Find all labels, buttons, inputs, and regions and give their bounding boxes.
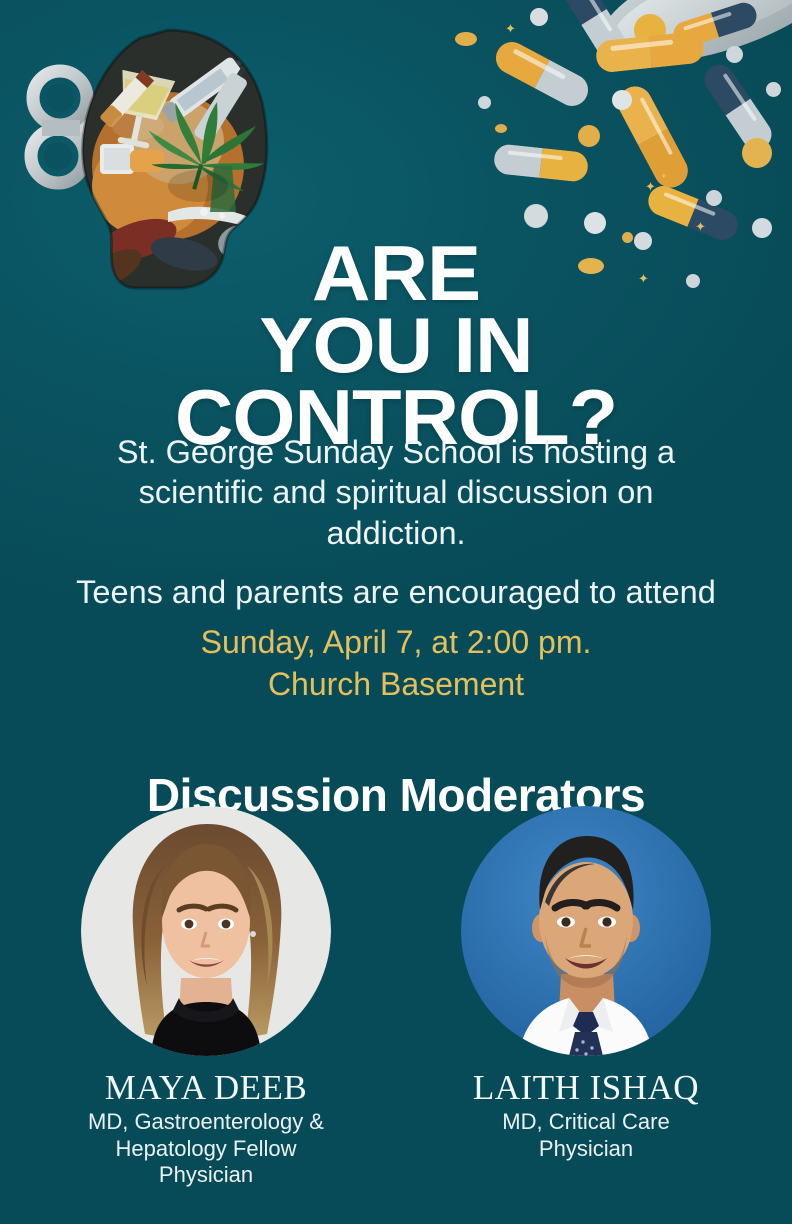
- sparkle-icon-3: ✦: [695, 220, 706, 233]
- tablet-gold-6: [495, 124, 507, 133]
- tablet-white-10: [766, 82, 781, 97]
- moderator-role-line-2: Hepatology Fellow Physician: [81, 1136, 331, 1190]
- description-line-2: scientific and spiritual discussion on: [26, 472, 766, 512]
- tablet-white-3: [478, 96, 491, 109]
- event-location: Church Basement: [26, 664, 766, 706]
- sparkle-icon-1: ✦: [505, 22, 516, 35]
- tablet-gold-2: [578, 125, 600, 147]
- tablet-gold-1: [455, 32, 477, 46]
- moderator-card: MAYA DEEB MD, Gastroenterology & Hepatol…: [81, 806, 331, 1206]
- moderator-name: MAYA DEEB: [81, 1070, 331, 1107]
- headline-line-1: ARE: [0, 238, 792, 310]
- moderator-card: LAITH ISHAQ MD, Critical Care Physician: [461, 806, 711, 1206]
- capsule-silver-gold-1: [493, 143, 590, 183]
- moderator-role-line-1: MD, Gastroenterology &: [81, 1109, 331, 1136]
- moderator-role-line-2: Physician: [461, 1136, 711, 1163]
- description-line-1: St. George Sunday School is hosting a: [26, 432, 766, 472]
- capsule-gold-navy-1: [644, 181, 742, 244]
- avatar: [81, 806, 331, 1056]
- headline-line-2: YOU IN: [0, 310, 792, 382]
- tablet-white-8: [706, 190, 722, 206]
- moderator-name: LAITH ISHAQ: [461, 1070, 711, 1107]
- tablet-white-7: [752, 218, 772, 238]
- capsule-gold-silver-1: [490, 36, 593, 111]
- moderator-role: MD, Gastroenterology & Hepatology Fellow…: [81, 1109, 331, 1189]
- moderator-role: MD, Critical Care Physician: [461, 1109, 711, 1163]
- tablet-gold-3: [742, 138, 772, 168]
- avatar: [461, 806, 711, 1056]
- sparkle-icon-2: ✦: [645, 180, 656, 193]
- sparkle-icon-5: ✦: [660, 172, 668, 181]
- tablet-white-5: [584, 212, 606, 234]
- poster-headline: ARE YOU IN CONTROL?: [0, 238, 792, 453]
- tablet-white-4: [524, 204, 548, 228]
- tablet-white-2: [612, 90, 632, 110]
- tablet-white-9: [726, 46, 743, 63]
- event-datetime: Sunday, April 7, at 2:00 pm.: [26, 622, 766, 664]
- event-poster: ✦ ✦ ✦ ✦ ✦: [0, 0, 792, 1224]
- audience-note: Teens and parents are encouraged to atte…: [12, 572, 780, 612]
- event-description: St. George Sunday School is hosting a sc…: [26, 432, 766, 553]
- moderator-role-line-1: MD, Critical Care: [461, 1109, 711, 1136]
- tablet-white-1: [530, 8, 548, 26]
- moderators-list: MAYA DEEB MD, Gastroenterology & Hepatol…: [0, 806, 792, 1206]
- event-details: Sunday, April 7, at 2:00 pm. Church Base…: [26, 622, 766, 705]
- description-line-3: addiction.: [26, 513, 766, 553]
